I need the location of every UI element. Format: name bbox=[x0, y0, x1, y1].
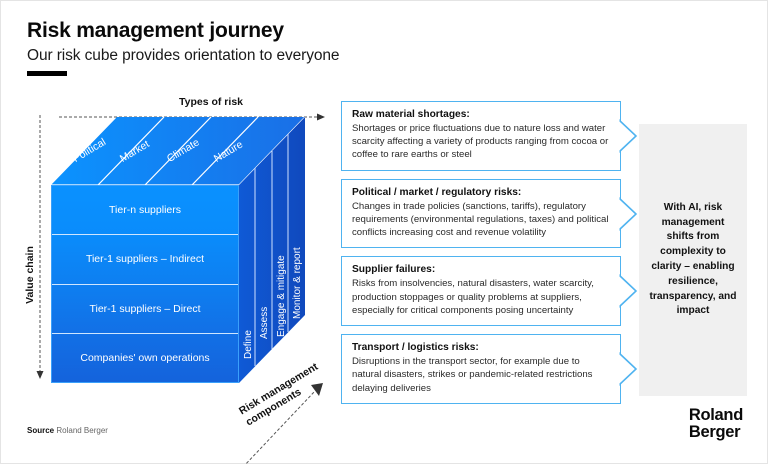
risk-cube-diagram: Types of risk Value chain Pol bbox=[1, 91, 341, 411]
callout-supplier-failures[interactable]: Supplier failures: Risks from insolvenci… bbox=[341, 256, 621, 326]
page-title: Risk management journey bbox=[27, 19, 284, 43]
cube-row-tier-1-direct: Tier-1 suppliers – Direct bbox=[52, 285, 238, 334]
chevron-right-icon bbox=[618, 274, 638, 308]
chevron-right-icon bbox=[618, 197, 638, 231]
callout-political-market-regulatory-risks[interactable]: Political / market / regulatory risks: C… bbox=[341, 179, 621, 249]
cube-row-tier-n-suppliers: Tier-n suppliers bbox=[52, 186, 238, 235]
callout-list: Raw material shortages: Shortages or pri… bbox=[341, 101, 621, 412]
source-value: Roland Berger bbox=[56, 426, 108, 435]
callout-title: Political / market / regulatory risks: bbox=[352, 187, 610, 198]
axis-label-types-of-risk: Types of risk bbox=[121, 96, 301, 108]
chevron-right-icon bbox=[618, 352, 638, 386]
callout-body: Disruptions in the transport sector, for… bbox=[352, 355, 610, 395]
callout-transport-logistics-risks[interactable]: Transport / logistics risks: Disruptions… bbox=[341, 334, 621, 404]
callout-title: Supplier failures: bbox=[352, 264, 610, 275]
cube-row-companies-own-operations: Companies' own operations bbox=[52, 334, 238, 382]
callout-title: Raw material shortages: bbox=[352, 109, 610, 120]
source-label: Source bbox=[27, 426, 54, 435]
cube-side-face bbox=[239, 117, 305, 383]
logo-line-1: Roland bbox=[689, 407, 743, 424]
conclusion-panel-text: With AI, risk management shifts from com… bbox=[647, 201, 739, 319]
callout-title: Transport / logistics risks: bbox=[352, 342, 610, 353]
source-note: Source Roland Berger bbox=[27, 426, 108, 435]
page-subtitle: Our risk cube provides orientation to ev… bbox=[27, 47, 339, 65]
slide-canvas: Risk management journey Our risk cube pr… bbox=[0, 0, 768, 464]
callout-body: Shortages or price fluctuations due to n… bbox=[352, 122, 610, 162]
cube-row-tier-1-indirect: Tier-1 suppliers – Indirect bbox=[52, 235, 238, 284]
accent-rule bbox=[27, 71, 67, 76]
callout-body: Changes in trade policies (sanctions, ta… bbox=[352, 200, 610, 240]
conclusion-panel: With AI, risk management shifts from com… bbox=[639, 124, 747, 396]
callout-raw-material-shortages[interactable]: Raw material shortages: Shortages or pri… bbox=[341, 101, 621, 171]
chevron-right-icon bbox=[618, 119, 638, 153]
roland-berger-logo: Roland Berger bbox=[689, 407, 743, 441]
callout-body: Risks from insolvencies, natural disaste… bbox=[352, 277, 610, 317]
cube-front-face: Tier-n suppliers Tier-1 suppliers – Indi… bbox=[51, 185, 239, 383]
logo-line-2: Berger bbox=[689, 424, 743, 441]
axis-arrow-value-chain bbox=[35, 115, 45, 381]
